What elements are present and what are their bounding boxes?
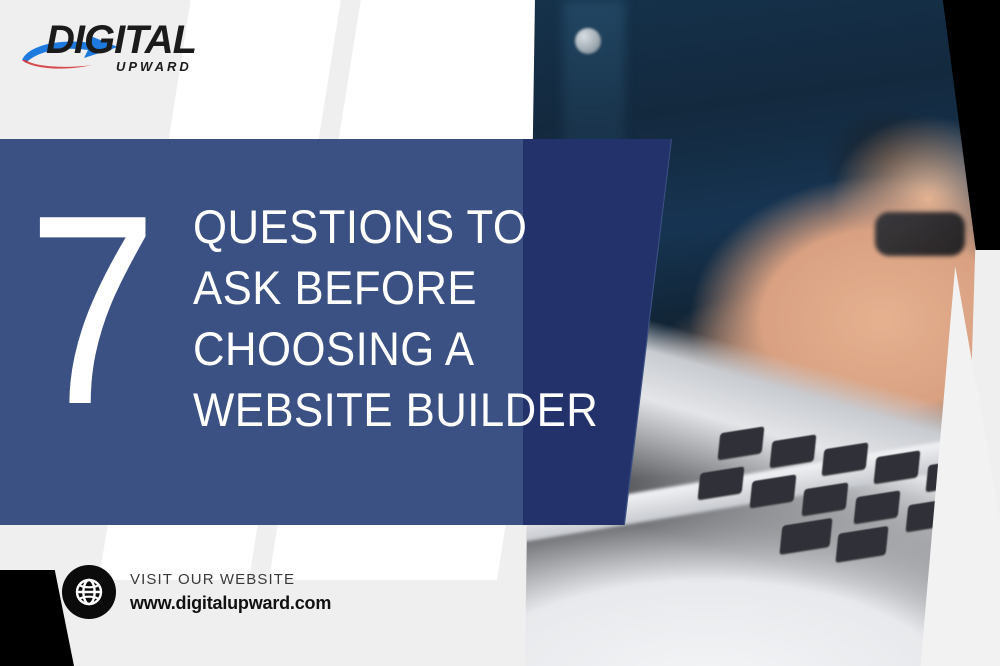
headline-text: QUESTIONS TO ASK BEFORE CHOOSING A WEBSI… (193, 196, 630, 440)
visit-label: VISIT OUR WEBSITE (130, 572, 331, 587)
headline-line: ASK BEFORE (193, 257, 630, 318)
headline-line: CHOOSING A (193, 318, 630, 379)
website-footer[interactable]: VISIT OUR WEBSITE www.digitalupward.com (62, 565, 331, 619)
poster-canvas: DIGITAL UPWARD 7 QUESTIONS TO ASK BEFORE… (0, 0, 1000, 666)
headline-numeral: 7 (28, 176, 157, 446)
website-url[interactable]: www.digitalupward.com (130, 594, 331, 612)
footer-text-group: VISIT OUR WEBSITE www.digitalupward.com (130, 572, 331, 612)
logo-tagline: UPWARD (116, 59, 192, 74)
headline-line: QUESTIONS TO (193, 196, 630, 257)
headline-line: WEBSITE BUILDER (193, 379, 630, 440)
logo-wordmark: DIGITAL (46, 20, 196, 60)
brand-logo[interactable]: DIGITAL UPWARD (18, 14, 218, 76)
globe-icon (73, 576, 105, 608)
shirt-button (575, 28, 601, 54)
wristwatch (875, 212, 965, 256)
globe-badge (62, 565, 116, 619)
